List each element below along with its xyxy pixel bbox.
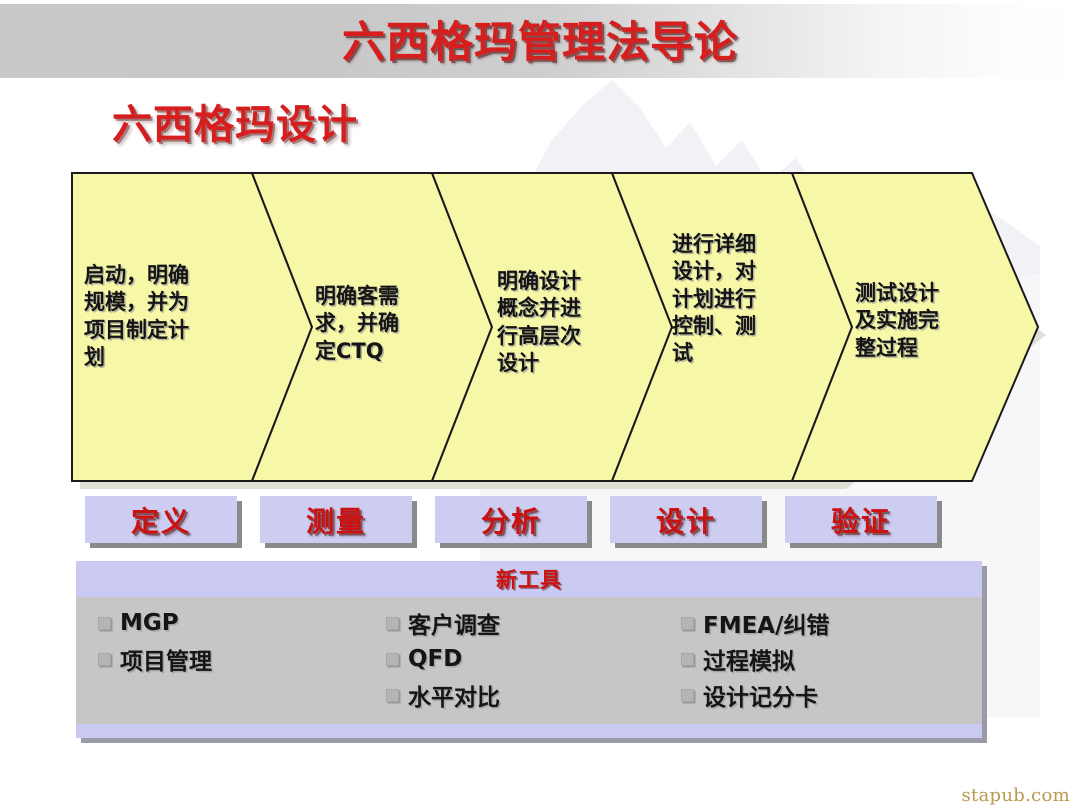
new-tools-panel-header: 新工具	[76, 561, 982, 597]
phase-button-label: 定义	[131, 500, 191, 540]
tool-item-label: 过程模拟	[703, 642, 795, 676]
site-watermark: stapub.com	[961, 785, 1070, 806]
checkbox-icon[interactable]	[98, 653, 111, 666]
tool-item-label: 设计记分卡	[703, 678, 818, 712]
tool-list-item[interactable]: 水平对比	[386, 677, 656, 713]
phase-button-label: 分析	[481, 500, 541, 540]
tool-list-item[interactable]: 客户调查	[386, 605, 656, 641]
tool-item-label: 水平对比	[408, 678, 500, 712]
phase-button-verify[interactable]: 验证	[785, 496, 937, 543]
tool-list-item[interactable]: MGP	[98, 605, 368, 641]
new-tools-panel-footer	[76, 724, 982, 738]
phase-button-design[interactable]: 设计	[610, 496, 762, 543]
phase-button-label: 测量	[306, 500, 366, 540]
tool-column: 客户调查 QFD 水平对比	[386, 605, 656, 713]
process-step-label-4: 测试设计 及实施完 整过程	[855, 280, 985, 362]
tool-list-item[interactable]: 项目管理	[98, 641, 368, 677]
phase-button-analyze[interactable]: 分析	[435, 496, 587, 543]
phase-button-label: 设计	[656, 500, 716, 540]
checkbox-icon[interactable]	[681, 617, 694, 630]
process-step-label-2: 明确设计 概念并进 行高层次 设计	[497, 268, 632, 377]
tool-list-item[interactable]: FMEA/纠错	[681, 605, 961, 641]
phase-button-define[interactable]: 定义	[85, 496, 237, 543]
new-tools-panel-body: MGP 项目管理 客户调查 QFD 水平对比	[76, 597, 982, 724]
new-tools-panel: 新工具 MGP 项目管理 客户调查 QF	[76, 561, 982, 738]
tool-list-item[interactable]: 设计记分卡	[681, 677, 961, 713]
page-title: 六西格玛管理法导论	[0, 8, 1080, 70]
tool-item-label: 项目管理	[120, 642, 212, 676]
process-step-label-1: 明确客需 求，并确 定CTQ	[315, 283, 455, 365]
tool-list-item[interactable]: QFD	[386, 641, 656, 677]
tool-item-label: QFD	[408, 646, 462, 672]
tool-column: FMEA/纠错 过程模拟 设计记分卡	[681, 605, 961, 713]
checkbox-icon[interactable]	[386, 653, 399, 666]
tool-item-label: 客户调查	[408, 606, 500, 640]
checkbox-icon[interactable]	[386, 617, 399, 630]
tool-column: MGP 项目管理	[98, 605, 368, 677]
slide-subtitle: 六西格玛设计	[112, 92, 358, 150]
checkbox-icon[interactable]	[98, 617, 111, 630]
phase-button-label: 验证	[831, 500, 891, 540]
checkbox-icon[interactable]	[681, 689, 694, 702]
tool-item-label: FMEA/纠错	[703, 606, 830, 640]
tool-item-label: MGP	[120, 610, 179, 636]
new-tools-title: 新工具	[496, 564, 562, 594]
process-step-label-0: 启动，明确 规模，并为 项目制定计 划	[84, 262, 244, 371]
process-step-label-3: 进行详细 设计，对 计划进行 控制、测 试	[672, 231, 812, 367]
tool-list-item[interactable]: 过程模拟	[681, 641, 961, 677]
phase-button-measure[interactable]: 测量	[260, 496, 412, 543]
slide-canvas: 六西格玛管理法导论 六西格玛设计 启动，明确 规模，并为 项目制定计 划 明确客…	[0, 0, 1080, 810]
checkbox-icon[interactable]	[386, 689, 399, 702]
checkbox-icon[interactable]	[681, 653, 694, 666]
phase-button-row: 定义 测量 分析 设计 验证	[80, 496, 960, 548]
